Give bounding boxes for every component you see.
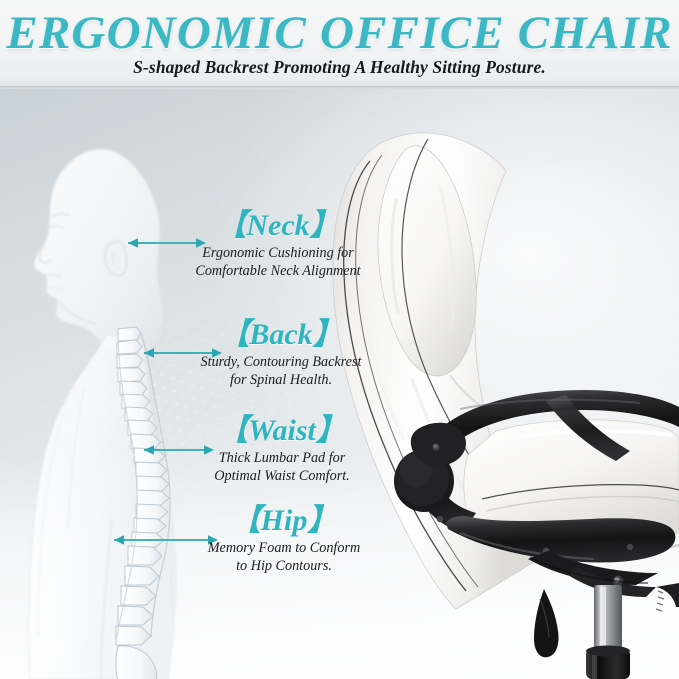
page-subtitle: S-shaped Backrest Promoting A Healthy Si… bbox=[0, 57, 679, 78]
callout-hip-line2: to Hip Contours. bbox=[186, 557, 382, 576]
callout-hip-line1: Memory Foam to Conform bbox=[186, 539, 382, 558]
infographic-body: 【Neck】 Ergonomic Cushioning for Comforta… bbox=[0, 89, 679, 679]
callout-back: 【Back】 Sturdy, Contouring Backrest for S… bbox=[183, 319, 379, 390]
callout-back-line1: Sturdy, Contouring Backrest bbox=[183, 353, 379, 372]
callout-neck-line1: Ergonomic Cushioning for bbox=[178, 244, 378, 263]
callout-back-line2: for Spinal Health. bbox=[183, 371, 379, 390]
callout-hip: 【Hip】 Memory Foam to Conform to Hip Cont… bbox=[186, 505, 382, 576]
callout-waist-line1: Thick Lumbar Pad for bbox=[184, 449, 380, 468]
callout-waist-line2: Optimal Waist Comfort. bbox=[184, 467, 380, 486]
callout-neck-line2: Comfortable Neck Alignment bbox=[178, 262, 378, 281]
chair-base-mechanism bbox=[528, 551, 679, 679]
callout-neck-title: 【Neck】 bbox=[178, 210, 378, 242]
callout-hip-title: 【Hip】 bbox=[186, 505, 382, 537]
callout-back-title: 【Back】 bbox=[183, 319, 379, 351]
callout-neck: 【Neck】 Ergonomic Cushioning for Comforta… bbox=[178, 210, 378, 281]
callout-waist-title: 【Waist】 bbox=[184, 415, 380, 447]
callout-waist: 【Waist】 Thick Lumbar Pad for Optimal Wai… bbox=[184, 415, 380, 486]
header-band: ERGONOMIC OFFICE CHAIR S-shaped Backrest… bbox=[0, 0, 679, 89]
product-infographic: ERGONOMIC OFFICE CHAIR S-shaped Backrest… bbox=[0, 0, 679, 679]
page-title: ERGONOMIC OFFICE CHAIR bbox=[0, 6, 679, 60]
